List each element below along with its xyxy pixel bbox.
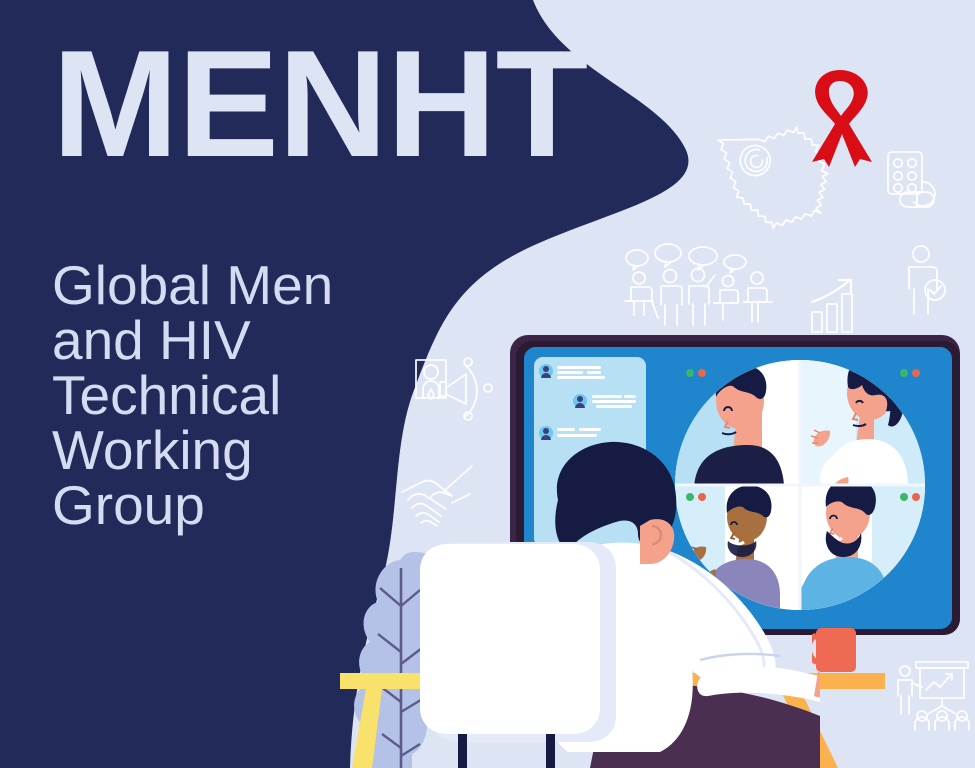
viewer-person-illustration [400,440,820,768]
subtitle-line-3: Technical [52,368,402,423]
office-chair [420,542,616,768]
poster-canvas: MENHT MENHT Global Men and HIV Technical… [0,0,975,768]
pills-blister-icon [888,152,935,207]
desk-leg-left [352,689,382,768]
red-ribbon-icon [790,62,890,167]
group-discussion-icon [625,244,772,325]
page-title: MENHT [52,28,587,180]
megaphone-advocacy-icon [416,358,492,420]
subtitle-line-5: Group [52,478,402,533]
person-check-icon [909,246,945,314]
subtitle-line-4: Working [52,423,402,478]
subtitle-line-2: and HIV [52,313,402,368]
subtitle-line-1: Global Men [52,258,402,313]
page-subtitle: Global Men and HIV Technical Working Gro… [52,258,402,533]
